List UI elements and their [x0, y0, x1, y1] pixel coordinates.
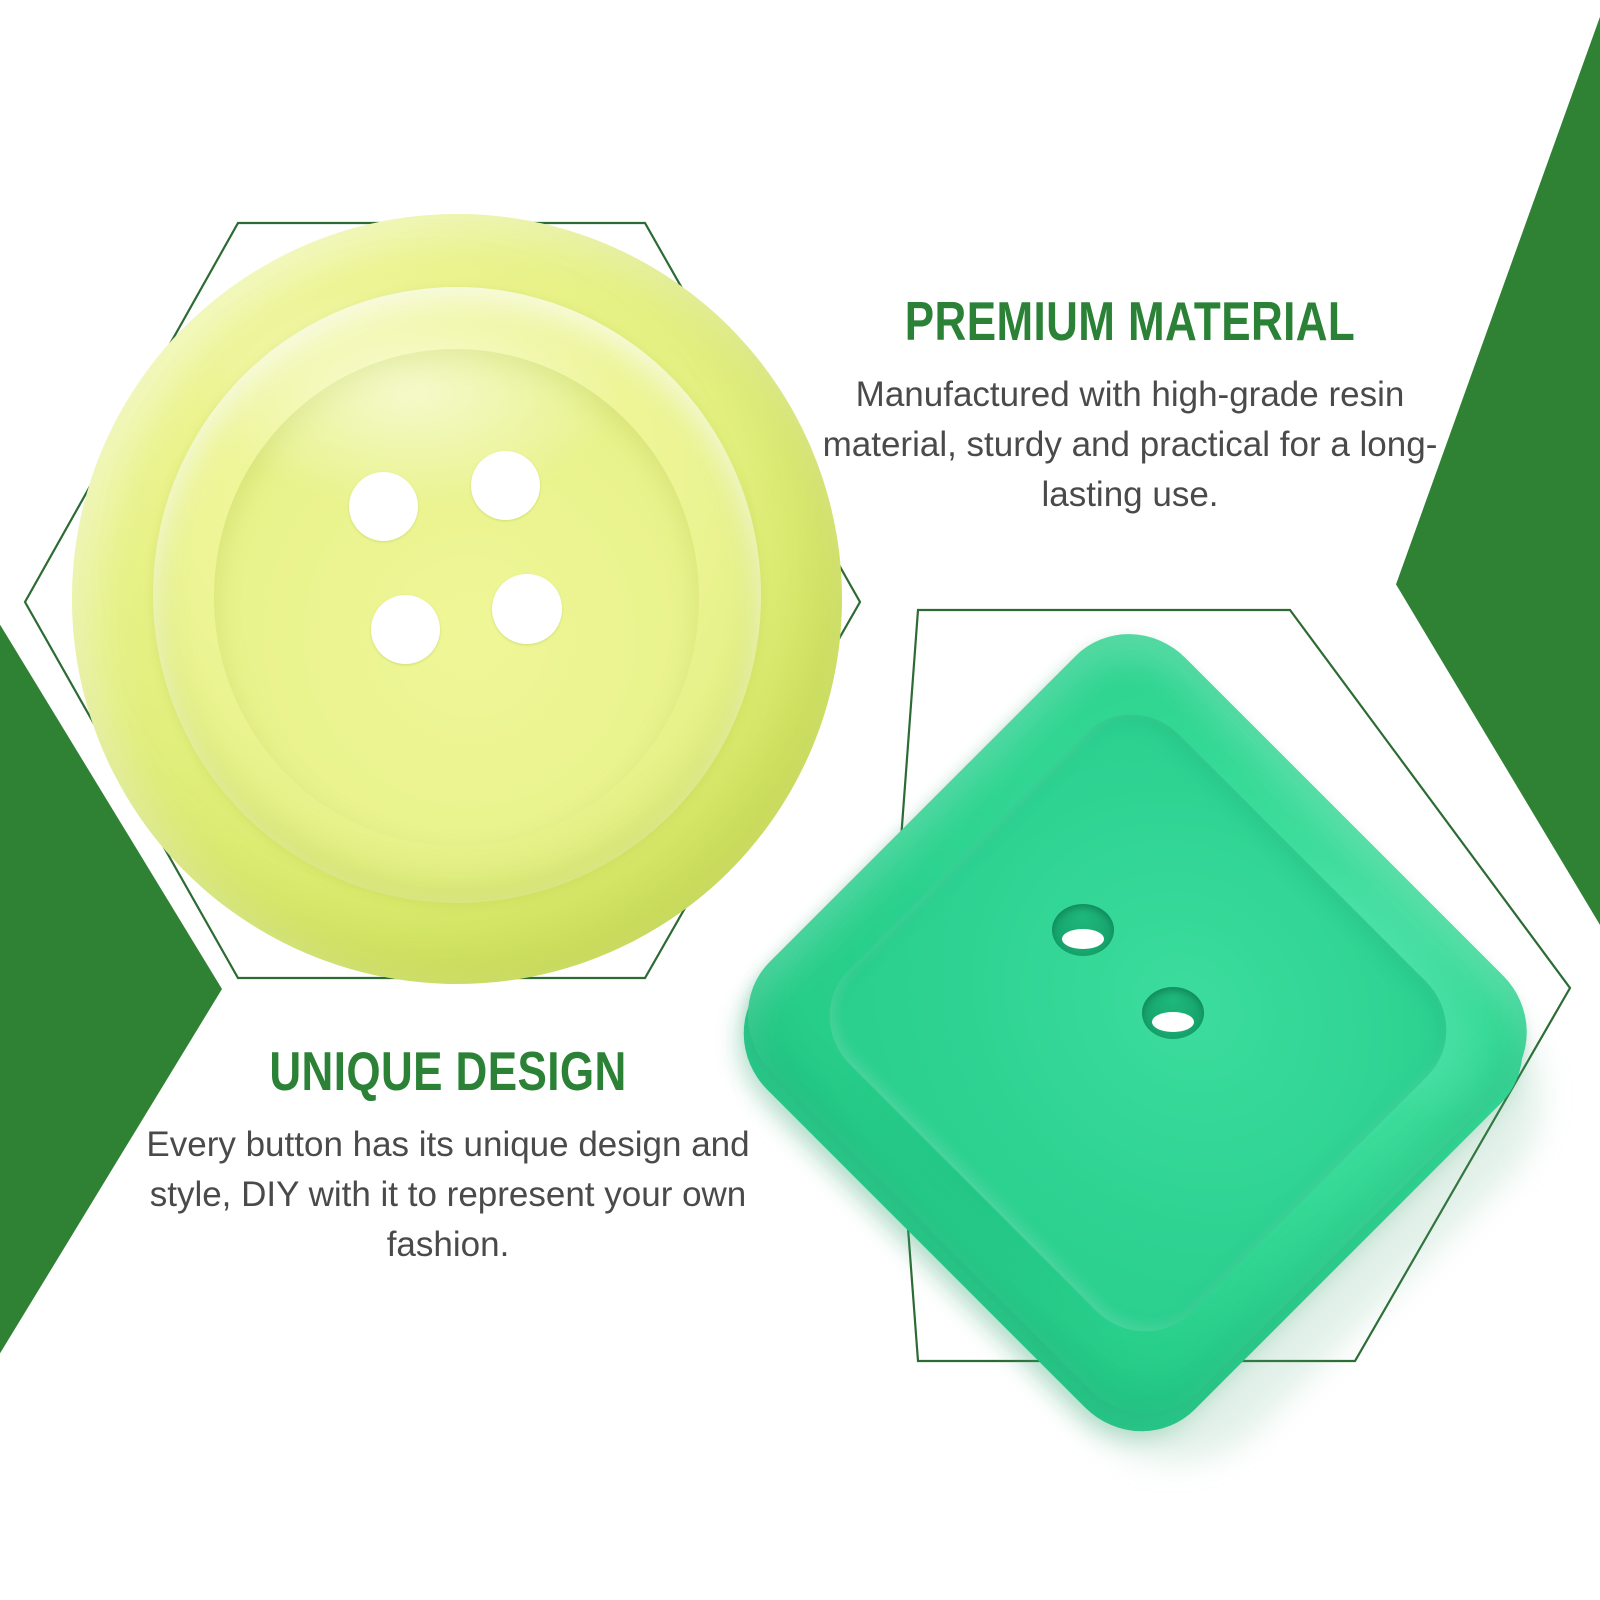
feature-heading-unique-design: UNIQUE DESIGN [192, 1042, 704, 1100]
infographic-canvas: PREMIUM MATERIAL Manufactured with high-… [0, 0, 1600, 1600]
feature-body-premium-material: Manufactured with high-grade resin mater… [800, 370, 1460, 519]
feature-block-unique-design: UNIQUE DESIGN Every button has its uniqu… [128, 1042, 768, 1269]
product-image-square-button [740, 620, 1560, 1410]
round-button-highlight [195, 276, 626, 507]
feature-heading-premium-material: PREMIUM MATERIAL [866, 292, 1394, 350]
feature-block-premium-material: PREMIUM MATERIAL Manufactured with high-… [800, 292, 1460, 519]
feature-body-unique-design: Every button has its unique design and s… [128, 1120, 768, 1269]
square-button-hole-upper [1052, 904, 1114, 956]
round-button-hole-bottom-right [492, 574, 561, 643]
square-button-hole-lower [1142, 987, 1204, 1039]
round-button-hole-bottom-left [371, 595, 440, 664]
product-image-round-button [72, 214, 842, 984]
